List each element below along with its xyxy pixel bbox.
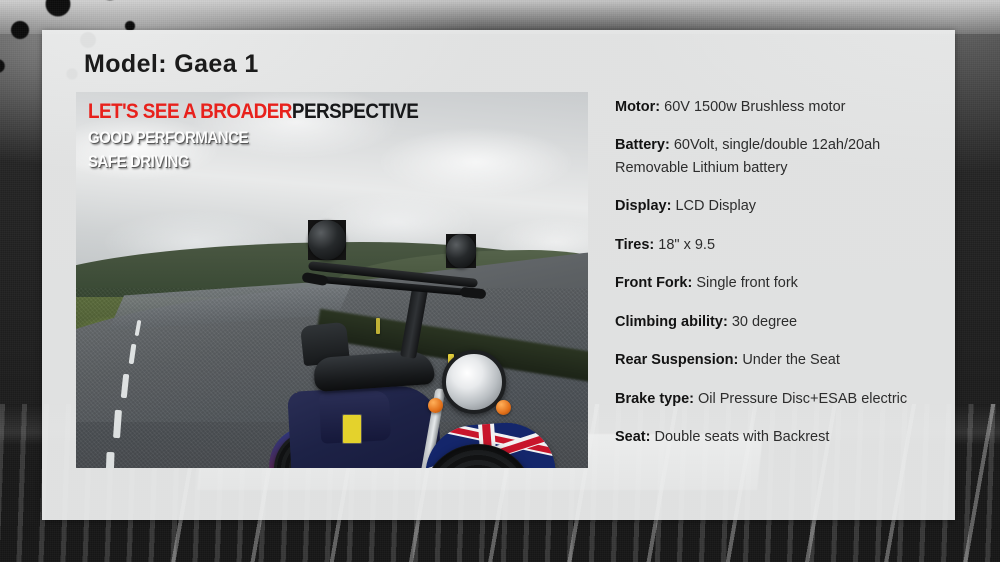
spec-key: Display: <box>615 198 671 214</box>
grip-right <box>460 287 487 300</box>
turn-signal-right <box>496 400 511 415</box>
spec-value: Under the Seat <box>742 352 840 368</box>
spec-value: 18" x 9.5 <box>658 237 715 253</box>
spec-value: Oil Pressure Disc+ESAB electric <box>698 391 907 407</box>
spec-row: Brake type: Oil Pressure Disc+ESAB elect… <box>615 388 935 410</box>
mirror-right <box>446 234 476 268</box>
spec-value: LCD Display <box>675 198 756 214</box>
slide-root: Model: Gaea 1 <box>0 0 1000 562</box>
spec-value: Double seats with Backrest <box>655 429 830 445</box>
mirror-glass <box>308 220 346 260</box>
spec-row: Battery: 60Volt, single/double 12ah/20ah… <box>615 134 935 179</box>
spec-key: Climbing ability: <box>615 314 728 330</box>
turn-signal-left <box>428 398 443 413</box>
spec-key: Tires: <box>615 237 654 253</box>
overlay-headline-black: PERSPECTIVE <box>292 100 418 123</box>
mirror-stem-left <box>76 92 85 136</box>
product-photo: LET'S SEE A BROADERPERSPECTIVE GOOD PERF… <box>76 92 588 468</box>
spec-row: Climbing ability: 30 degree <box>615 311 935 333</box>
spec-row: Seat: Double seats with Backrest <box>615 426 935 448</box>
spec-row: Display: LCD Display <box>615 195 935 217</box>
spec-value: Single front fork <box>696 275 798 291</box>
spec-key: Rear Suspension: <box>615 352 738 368</box>
spec-row: Motor: 60V 1500w Brushless motor <box>615 96 935 118</box>
photo-overlay-text: LET'S SEE A BROADERPERSPECTIVE GOOD PERF… <box>88 100 558 173</box>
spec-row: Front Fork: Single front fork <box>615 272 935 294</box>
spec-value: 30 degree <box>732 314 797 330</box>
overlay-headline: LET'S SEE A BROADERPERSPECTIVE <box>88 100 511 124</box>
steering-stem <box>400 287 428 359</box>
mirror-glass <box>446 234 476 268</box>
overlay-subline-1: GOOD PERFORMANCE <box>88 127 502 148</box>
grip-left <box>301 272 328 286</box>
spec-row: Rear Suspension: Under the Seat <box>615 349 935 371</box>
spec-key: Front Fork: <box>615 275 692 291</box>
spec-key: Battery: <box>615 137 670 153</box>
page-title: Model: Gaea 1 <box>84 50 259 79</box>
overlay-headline-red: LET'S SEE A BROADER <box>88 100 292 123</box>
spec-key: Seat: <box>615 429 650 445</box>
overlay-subline-2: SAFE DRIVING <box>88 151 502 172</box>
mirror-stem-right <box>76 136 83 170</box>
spec-list: Motor: 60V 1500w Brushless motor Battery… <box>615 96 935 465</box>
mirror-left <box>308 220 346 260</box>
seat <box>313 350 435 392</box>
spec-key: Motor: <box>615 99 660 115</box>
spec-key: Brake type: <box>615 391 694 407</box>
battery-indicator <box>342 414 362 444</box>
spec-row: Tires: 18" x 9.5 <box>615 234 935 256</box>
spec-value: 60V 1500w Brushless motor <box>664 99 845 115</box>
